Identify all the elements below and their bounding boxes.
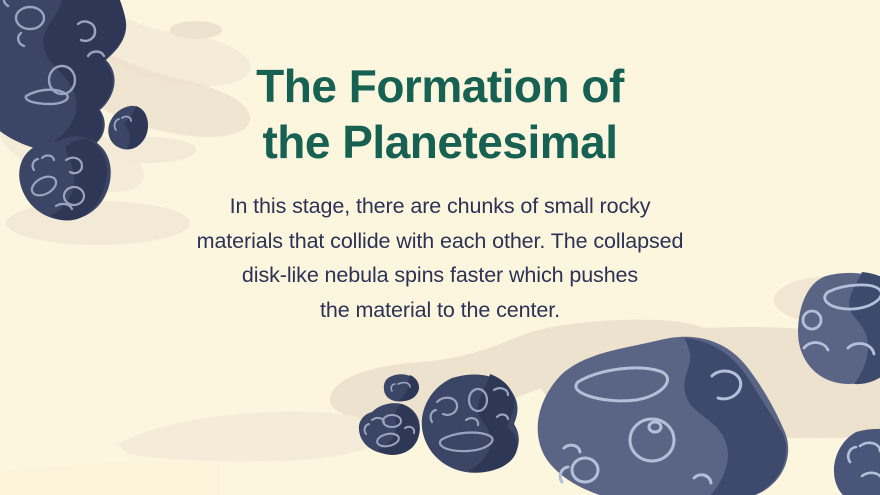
asteroid-rocks-illustration xyxy=(0,0,880,495)
slide-canvas: The Formation of the Planetesimal In thi… xyxy=(0,0,880,495)
shadow-rock-mid-left xyxy=(6,201,190,245)
shadow-top-dot xyxy=(170,21,222,39)
rock-bottom-center-tiny xyxy=(384,374,419,401)
